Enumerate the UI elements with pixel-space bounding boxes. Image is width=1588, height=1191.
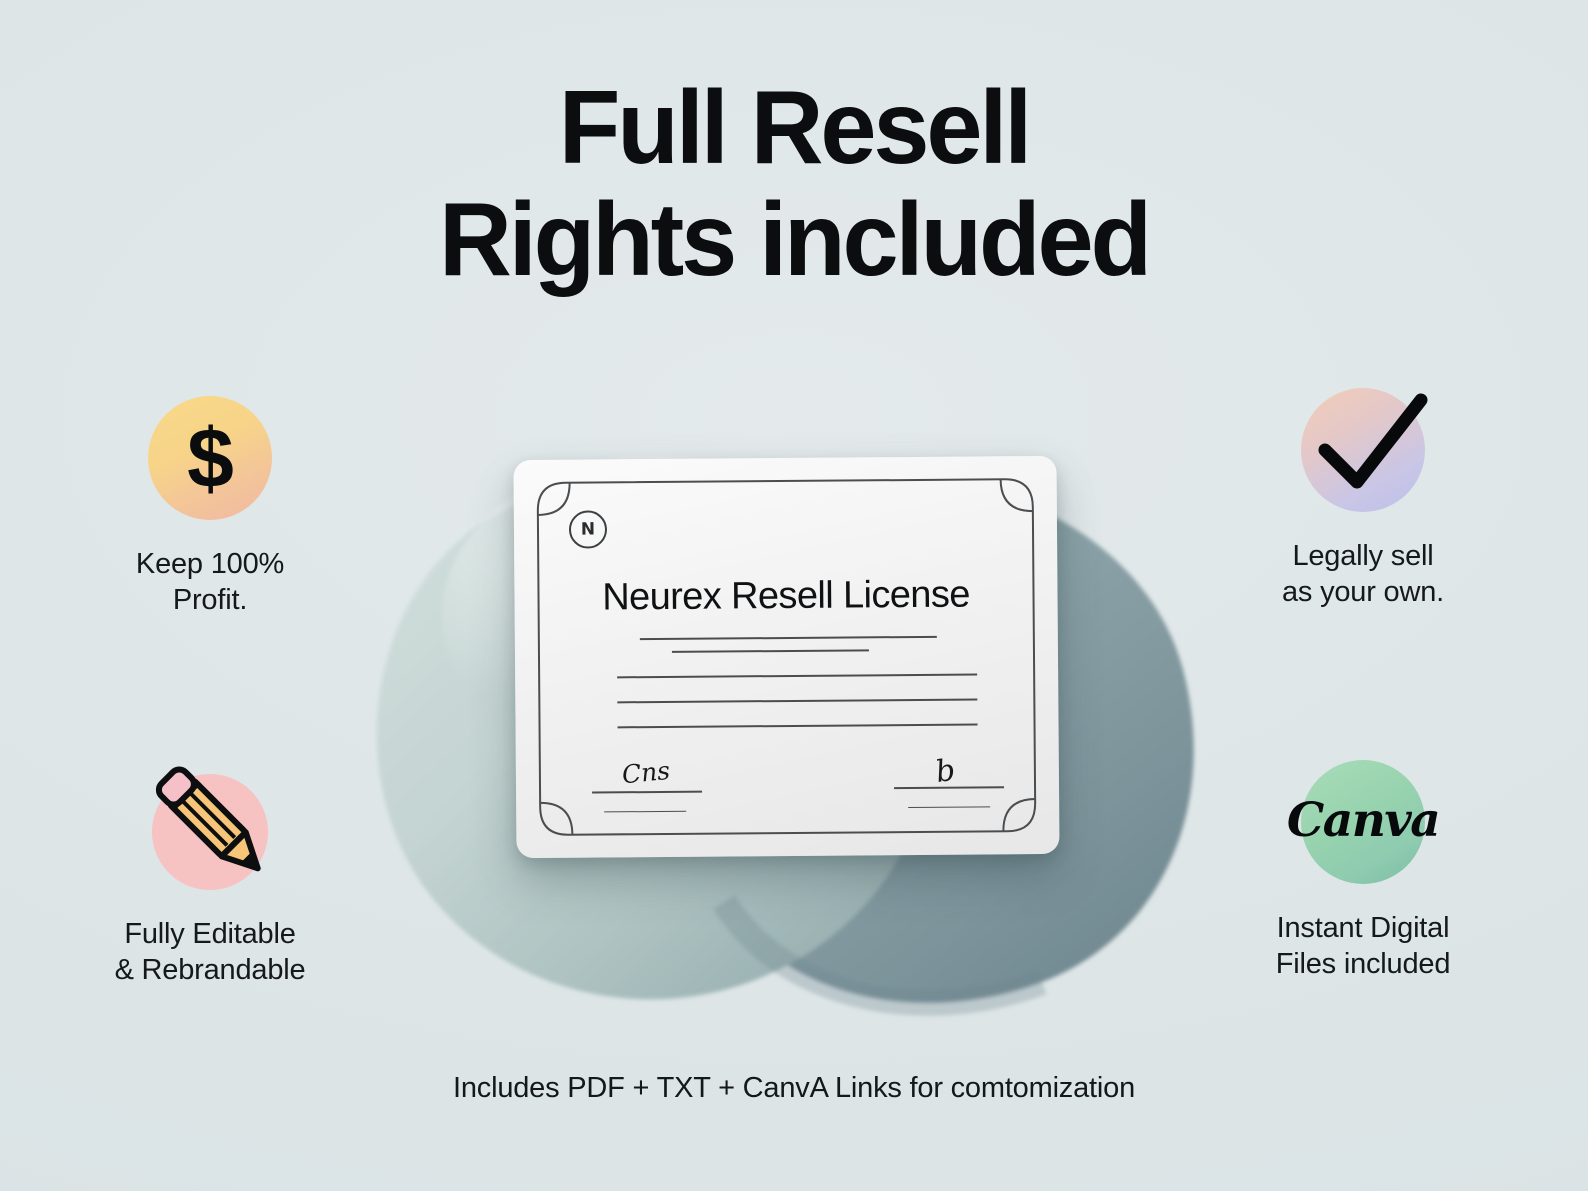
certificate-title: Neurex Resell License xyxy=(536,573,1035,620)
dollar-sign-glyph: $ xyxy=(187,410,233,507)
feature-keep-profit-label-line1: Keep 100% xyxy=(136,548,284,580)
feature-instant-files-label-line1: Instant Digital xyxy=(1277,912,1450,944)
feature-legally-sell: Legally sell as your own. xyxy=(1213,388,1513,611)
pencil-icon-wrap xyxy=(148,766,272,890)
check-icon-wrap xyxy=(1301,388,1425,512)
certificate-logo-glyph: N xyxy=(581,521,595,538)
feature-fully-editable-label: Fully Editable & Rebrandable xyxy=(60,916,360,989)
feature-legally-sell-label: Legally sell as your own. xyxy=(1213,538,1513,611)
page-title-line-1: Full Resell xyxy=(24,72,1564,184)
poster-canvas: Full Resell Rights included xyxy=(0,0,1588,1191)
certificate-inner-frame: N Neurex Resell License Cns b xyxy=(536,477,1038,837)
pencil-icon xyxy=(150,762,282,894)
feature-instant-files: Canva Instant Digital Files included xyxy=(1213,760,1513,983)
feature-keep-profit: $ Keep 100% Profit. xyxy=(60,396,360,619)
certificate-logo-icon: N xyxy=(569,510,607,548)
feature-keep-profit-label-line2: Profit. xyxy=(60,582,360,618)
dollar-icon-wrap: $ xyxy=(148,396,272,520)
feature-instant-files-label-line2: Files included xyxy=(1213,946,1513,982)
footer-note: Includes PDF + TXT + CanvA Links for com… xyxy=(0,1072,1588,1105)
checkmark-icon xyxy=(1295,378,1439,522)
page-title: Full Resell Rights included xyxy=(0,72,1588,297)
canva-wordmark: Canva xyxy=(1287,793,1439,848)
signature-left-mark: Cns xyxy=(621,756,672,789)
feature-keep-profit-label: Keep 100% Profit. xyxy=(60,546,360,619)
feature-legally-sell-label-line1: Legally sell xyxy=(1292,540,1433,572)
canva-icon-wrap: Canva xyxy=(1301,760,1425,884)
license-certificate-card: N Neurex Resell License Cns b xyxy=(513,456,1059,858)
feature-fully-editable-label-line1: Fully Editable xyxy=(124,918,295,950)
feature-fully-editable: Fully Editable & Rebrandable xyxy=(60,766,360,989)
canva-logo-icon: Canva xyxy=(1301,758,1425,882)
feature-legally-sell-label-line2: as your own. xyxy=(1213,574,1513,610)
feature-instant-files-label: Instant Digital Files included xyxy=(1213,910,1513,983)
feature-fully-editable-label-line2: & Rebrandable xyxy=(60,952,360,988)
certificate-border-ornament xyxy=(536,477,1038,837)
page-title-line-2: Rights included xyxy=(24,184,1564,296)
dollar-sign-icon: $ xyxy=(148,396,272,520)
